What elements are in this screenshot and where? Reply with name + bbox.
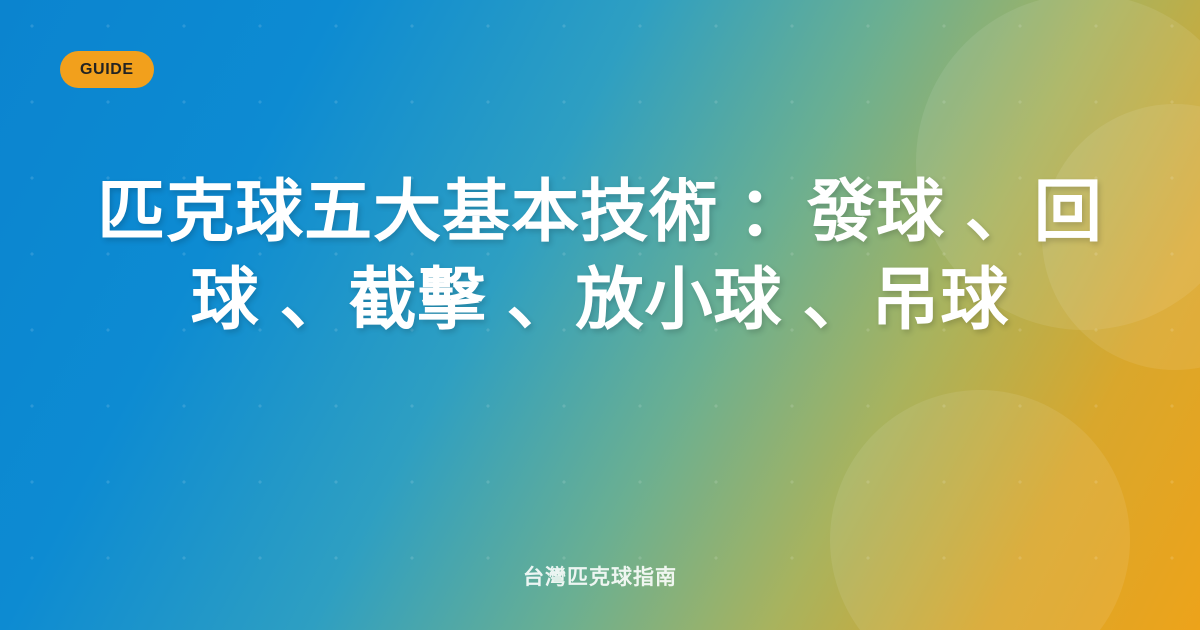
banner-content: GUIDE 匹克球五大基本技術 ：發球 、回球 、截擊 、放小球 、吊球 台灣匹… [0,0,1200,630]
share-card-banner: GUIDE 匹克球五大基本技術 ：發球 、回球 、截擊 、放小球 、吊球 台灣匹… [0,0,1200,630]
page-title: 匹克球五大基本技術 ：發球 、回球 、截擊 、放小球 、吊球 [96,168,1104,344]
site-name-footer: 台灣匹克球指南 [0,564,1200,592]
category-badge: GUIDE [60,51,154,88]
